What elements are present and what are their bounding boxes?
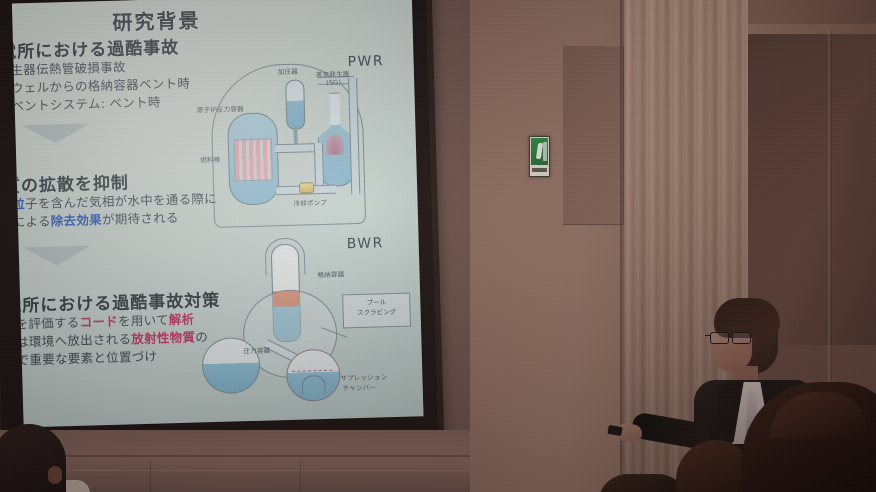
pwr-label-pressurizer: 加圧器 — [278, 66, 298, 77]
bwr-label-containment: 格納容器 — [317, 268, 344, 279]
pwr-steam-generator-tubes — [326, 134, 345, 154]
section3-highlight-2: 解析 — [169, 312, 195, 328]
curtain-edge — [620, 0, 626, 492]
wall-panel-seam-1 — [150, 460, 151, 492]
pwr-diagram: PWR 加圧器 — [199, 37, 404, 233]
wall-panel-seam-2 — [300, 460, 301, 492]
bullet-triangle-2 — [23, 245, 92, 266]
bwr-label-suppression-2: チャンバー — [343, 382, 377, 393]
wall-trim-highlight — [0, 470, 470, 471]
pwr-coolant-pump-icon — [299, 182, 314, 193]
bwr-callout-line-2: スクラビング — [344, 307, 410, 319]
emergency-exit-sign-icon — [529, 136, 550, 177]
pwr-label-sg-abbr: (SG) — [326, 78, 341, 86]
bwr-pool-scrubbing-callout: プール スクラビング — [342, 293, 411, 329]
presenter-glasses — [710, 332, 754, 342]
pwr-label-fuel: 燃料棒 — [200, 154, 220, 165]
slide-title: 研究背景 — [112, 4, 201, 35]
section2-text-2: グによる — [12, 213, 51, 229]
wall-panel — [562, 45, 624, 225]
bwr-label-pressure-vessel: 圧力容器 — [243, 344, 270, 355]
exit-sign-text-strip — [532, 168, 547, 172]
pwr-pressurizer — [285, 79, 305, 130]
doorway-header — [745, 24, 876, 34]
section2-highlight-2: 除去効果 — [51, 212, 103, 228]
exit-door-shape — [543, 142, 547, 161]
pwr-diagram-title: PWR — [347, 53, 384, 70]
pwr-label-steam-generator: 蒸気発生器 — [316, 68, 350, 79]
presenter-glasses-bridge — [705, 335, 711, 336]
audience-left-ear — [48, 466, 62, 484]
slide-section-1-lines: 発生器伝熱管破損事故 トウェルからの格納容器ベント時 きベントシステム: ベント… — [12, 57, 191, 116]
slide-section-2-lines: 微粒子を含んだ気相が水中を通る際に グによる除去効果が期待される — [12, 190, 218, 232]
wall-trim-line — [0, 455, 470, 457]
pwr-label-pump: 冷却ポンプ — [293, 197, 327, 208]
pwr-fuel-core — [234, 138, 273, 181]
bwr-diagram: BWR プール スクラビング — [204, 228, 419, 414]
section3-text-3: グは環境へ放出される — [12, 331, 132, 350]
presentation-room-photo: 研究背景 電所における過酷事故 発生器伝熱管破損事故 トウェルからの格納容器ベン… — [0, 0, 876, 492]
pwr-loop-riser-pipe — [314, 143, 324, 189]
bwr-callout-text: プール スクラビング — [343, 298, 410, 319]
bwr-label-suppression-1: サプレッション — [340, 371, 387, 382]
section3-highlight-3: 放射性物質 — [131, 329, 195, 346]
section2-text-1: 子を含んだ気相が水中を通る際に — [25, 191, 217, 211]
section2-highlight-1: 微粒 — [12, 196, 25, 212]
bwr-diagram-title: BWR — [346, 235, 384, 252]
bullet-triangle-1 — [21, 123, 90, 144]
projection-screen-bezel: 研究背景 電所における過酷事故 発生器伝熱管破損事故 トウェルからの格納容器ベン… — [0, 0, 438, 452]
section3-highlight-1: コード — [79, 314, 118, 330]
section3-text-2: を用いて — [118, 312, 169, 328]
pwr-steam-line-outlet — [348, 78, 360, 194]
projection-screen-frame: 研究背景 電所における過酷事故 発生器伝熱管破損事故 トウェルからの格納容器ベン… — [0, 0, 444, 462]
section2-text-3: が期待される — [102, 210, 179, 227]
section3-text-1: 響を評価する — [12, 315, 80, 332]
slide-section-3-lines: 響を評価するコードを用いて解析 グは環境へ放出される放射性物質の ズで重要な要素… — [12, 310, 209, 369]
presentation-slide: 研究背景 電所における過酷事故 発生器伝熱管破損事故 トウェルからの格納容器ベン… — [12, 0, 424, 427]
pwr-label-reactor-vessel: 原子炉圧力容器 — [197, 103, 244, 114]
exit-sign-pictogram — [531, 138, 548, 165]
bwr-vent-pipe-arc — [301, 375, 326, 395]
